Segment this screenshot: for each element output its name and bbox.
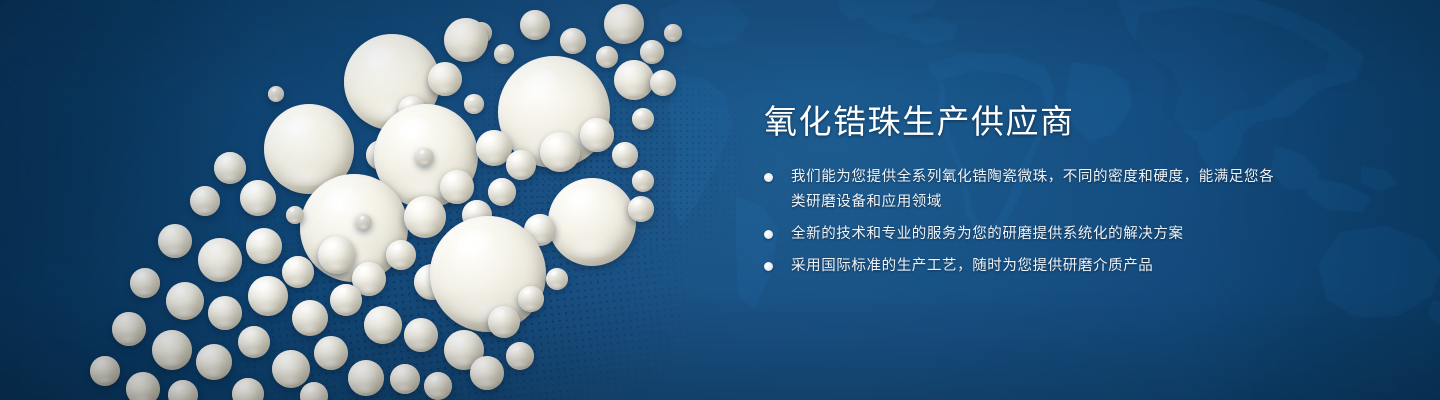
bullet-text-3: 采用国际标准的生产工艺，随时为您提供研磨介质产品 (791, 258, 1153, 274)
bullet-text-2: 全新的技术和专业的服务为您的研磨提供系统化的解决方案 (791, 226, 1184, 242)
bullet-dot-icon (764, 230, 773, 239)
banner-headline: 氧化锆珠生产供应商 (764, 104, 1284, 141)
banner-copy: 氧化锆珠生产供应商 我们能为您提供全系列氧化锆陶瓷微珠，不同的密度和硬度，能满足… (764, 104, 1284, 279)
banner-bullet-list: 我们能为您提供全系列氧化锆陶瓷微珠，不同的密度和硬度，能满足您各类研磨设备和应用… (764, 165, 1284, 279)
bullet-dot-icon (764, 262, 773, 271)
bullet-item-2: 全新的技术和专业的服务为您的研磨提供系统化的解决方案 (764, 222, 1284, 247)
promo-banner: 氧化锆珠生产供应商 我们能为您提供全系列氧化锆陶瓷微珠，不同的密度和硬度，能满足… (0, 0, 1440, 400)
bullet-dot-icon (764, 173, 773, 182)
bullet-item-1: 我们能为您提供全系列氧化锆陶瓷微珠，不同的密度和硬度，能满足您各类研磨设备和应用… (764, 165, 1284, 215)
bullet-item-3: 采用国际标准的生产工艺，随时为您提供研磨介质产品 (764, 254, 1284, 279)
bullet-text-1: 我们能为您提供全系列氧化锆陶瓷微珠，不同的密度和硬度，能满足您各类研磨设备和应用… (791, 169, 1274, 210)
